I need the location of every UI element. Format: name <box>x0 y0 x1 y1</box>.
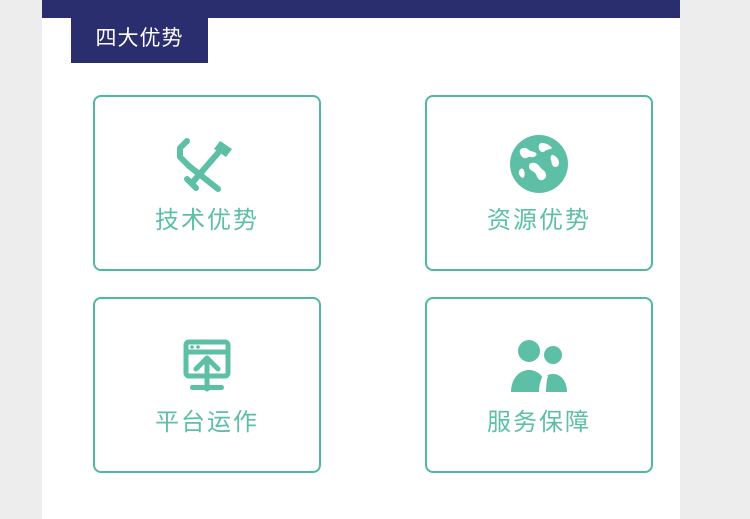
browser-upload-icon <box>176 335 238 397</box>
advantage-card-platform[interactable]: 平台运作 <box>93 297 321 473</box>
advantage-card-technology[interactable]: 技术优势 <box>93 95 321 271</box>
advantage-card-label: 资源优势 <box>487 209 591 233</box>
advantage-card-label: 服务保障 <box>487 411 591 435</box>
page-title: 四大优势 <box>96 28 184 49</box>
page-root: 四大优势 <box>0 0 750 519</box>
advantages-card-grid: 技术优势 资源优势 <box>93 95 655 473</box>
advantage-card-service[interactable]: 服务保障 <box>425 297 653 473</box>
advantage-card-label: 技术优势 <box>155 209 259 233</box>
globe-icon <box>508 133 570 195</box>
advantage-card-resources[interactable]: 资源优势 <box>425 95 653 271</box>
tools-hammer-wrench-icon <box>174 133 240 195</box>
two-people-icon <box>506 335 572 397</box>
section-title-tab: 四大优势 <box>71 13 208 63</box>
advantage-card-label: 平台运作 <box>155 411 259 435</box>
